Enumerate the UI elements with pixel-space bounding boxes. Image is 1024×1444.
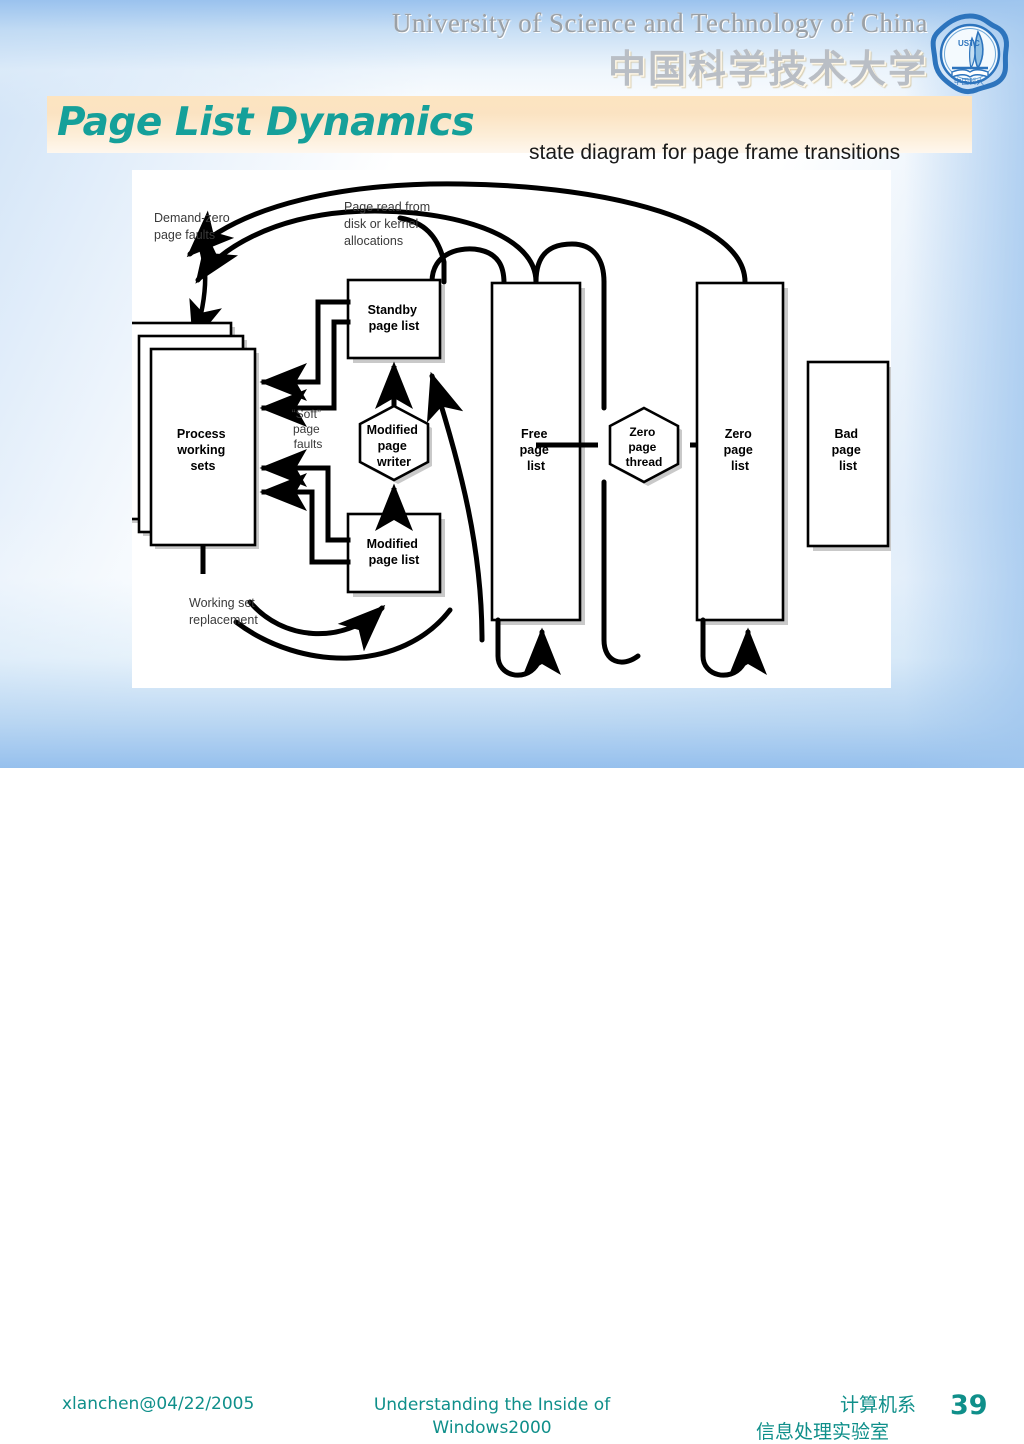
- footer-course-title: Understanding the Inside of Windows2000: [357, 1394, 627, 1440]
- footer-course-line2: Windows2000: [357, 1417, 627, 1440]
- university-name-english: University of Science and Technology of …: [392, 8, 928, 39]
- soft-page-faults-annotation: “Soft” page faults: [292, 407, 325, 451]
- slide-footer: xlanchen@04/22/2005 Understanding the In…: [0, 688, 1024, 768]
- footer-author: xlanchen@04/22/2005: [62, 1394, 254, 1414]
- logo-ustc-text: USTC: [958, 39, 980, 48]
- page-read-from-disk-annotation: Page read from disk or kernel allocation…: [344, 200, 434, 248]
- diagram-plate: Process working sets Standby page list M…: [132, 170, 891, 688]
- page-subtitle: state diagram for page frame transitions: [529, 141, 900, 165]
- demand-zero-page-faults-annotation: Demand-zero page faults: [154, 211, 233, 242]
- footer-department-line2: 信息处理实验室: [756, 1417, 889, 1444]
- svg-text:中国科大: 中国科大: [954, 76, 984, 86]
- page-title: Page List Dynamics: [57, 100, 474, 145]
- zero-page-thread-label: Zero page thread: [626, 425, 663, 469]
- slide-page-number: 39: [950, 1390, 988, 1421]
- footer-course-line1: Understanding the Inside of: [357, 1394, 627, 1417]
- working-set-replacement-annotation: Working set replacement: [189, 596, 258, 627]
- ustc-seal-logo: USTC 中国科大: [928, 12, 1012, 96]
- slide-header: University of Science and Technology of …: [0, 0, 1024, 96]
- footer-department-line1: 计算机系: [840, 1390, 916, 1417]
- university-name-chinese: 中国科学技术大学: [608, 38, 928, 93]
- page-frame-state-diagram: Process working sets Standby page list M…: [132, 170, 891, 688]
